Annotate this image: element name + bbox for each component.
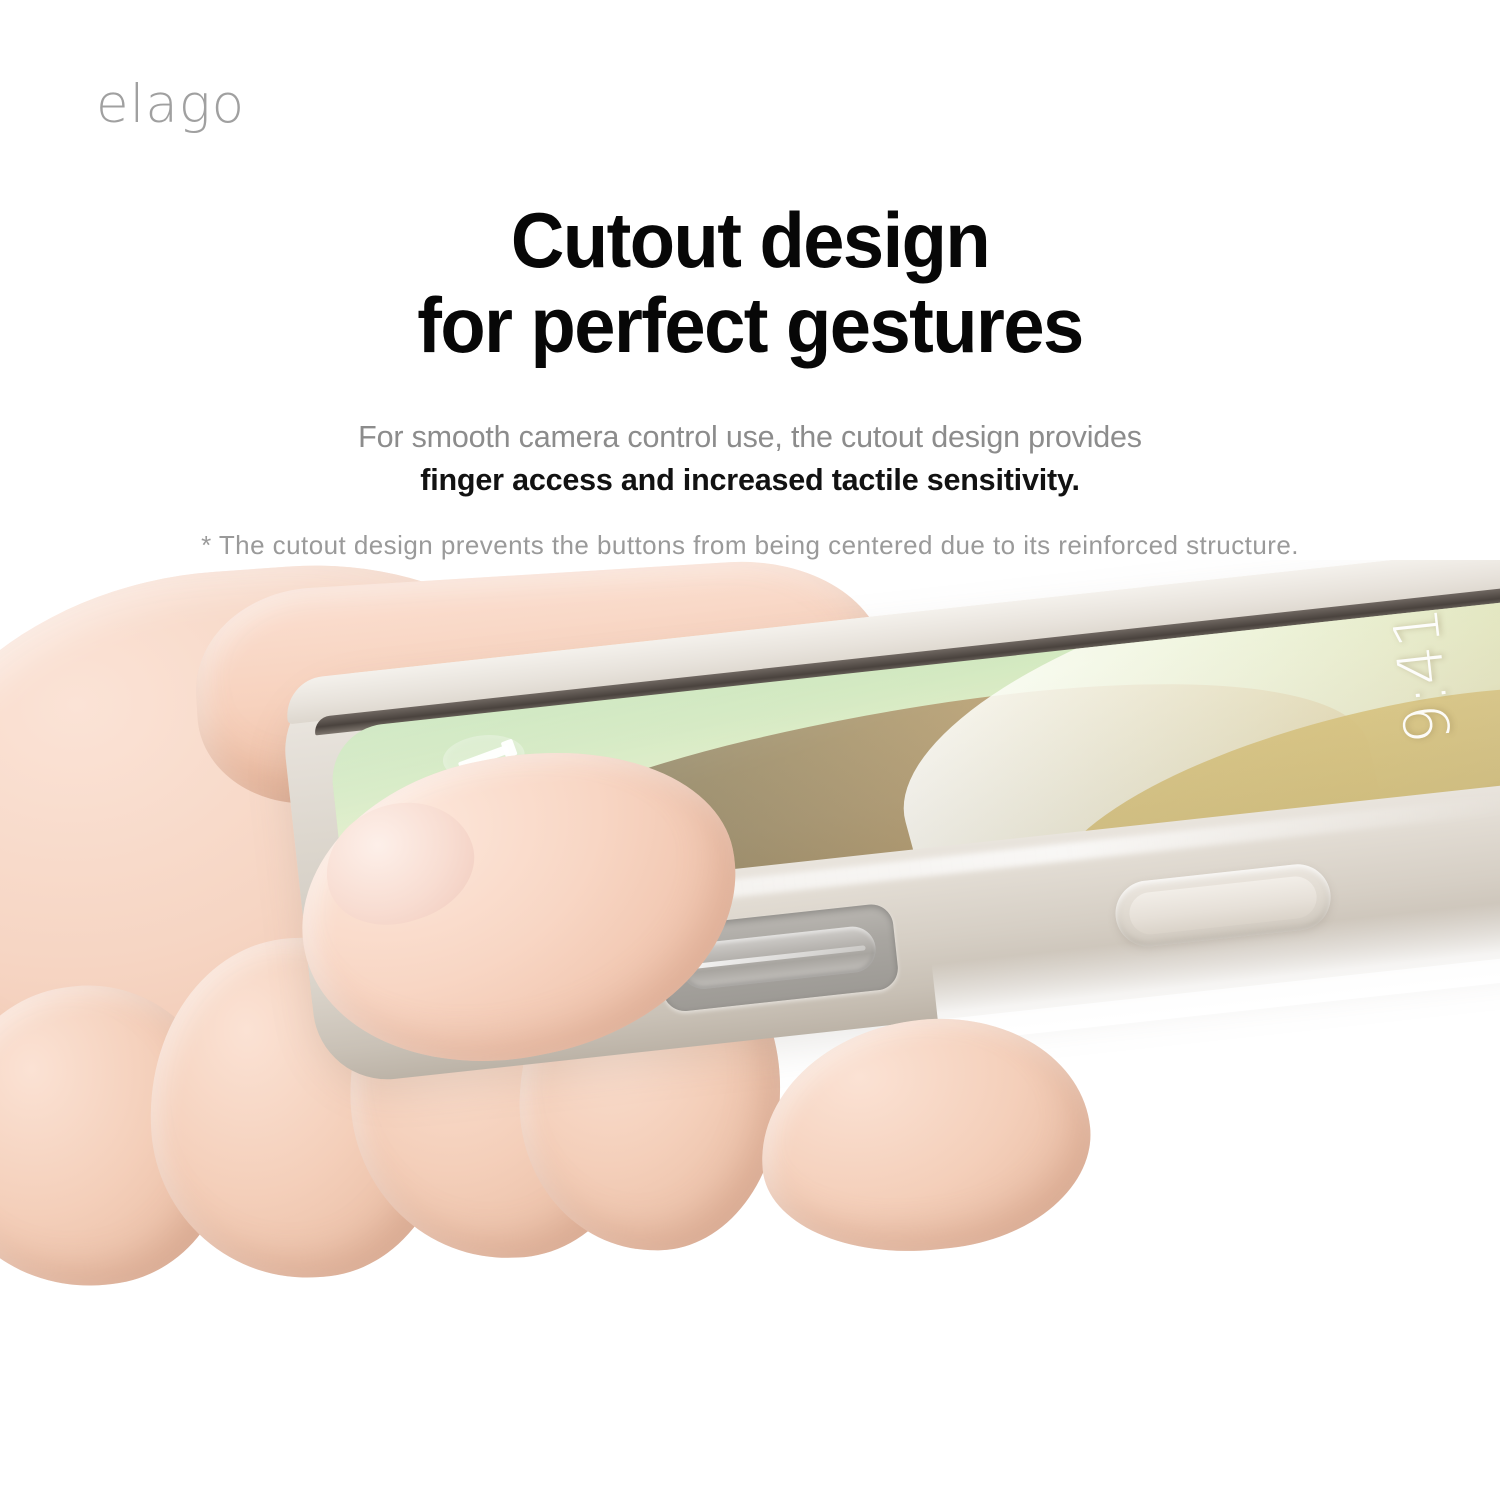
headline-line-2: for perfect gestures bbox=[38, 283, 1463, 368]
subtitle-line-1: For smooth camera control use, the cutou… bbox=[0, 416, 1500, 459]
product-photo: 9:41 bbox=[0, 560, 1500, 1500]
headline-line-1: Cutout design bbox=[38, 198, 1463, 283]
lock-screen-clock: 9:41 bbox=[1378, 605, 1465, 747]
subtitle-line-2: finger access and increased tactile sens… bbox=[0, 459, 1500, 502]
product-feature-page: elago Cutout design for perfect gestures… bbox=[0, 0, 1500, 1500]
footnote-disclaimer: * The cutout design prevents the buttons… bbox=[0, 529, 1500, 563]
elago-brand-logo: elago bbox=[96, 78, 245, 131]
copy-block: Cutout design for perfect gestures For s… bbox=[0, 198, 1500, 562]
subtitle: For smooth camera control use, the cutou… bbox=[0, 416, 1500, 503]
page-title: Cutout design for perfect gestures bbox=[38, 198, 1463, 368]
